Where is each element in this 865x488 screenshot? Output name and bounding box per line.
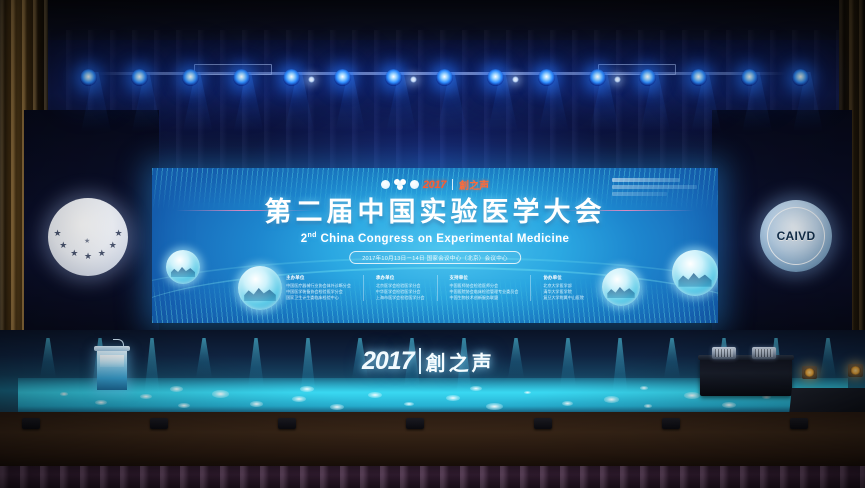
spotlight bbox=[436, 69, 453, 86]
accent-light bbox=[410, 76, 417, 83]
lighting-truss bbox=[0, 58, 865, 104]
star-icon: ★ bbox=[109, 241, 117, 250]
stage-edge-fixture bbox=[150, 418, 168, 429]
console-gear-1 bbox=[712, 347, 736, 359]
gobo-pattern bbox=[170, 386, 183, 392]
spotlight bbox=[589, 69, 606, 86]
spotlight bbox=[538, 69, 555, 86]
star-icon-center: ★ bbox=[84, 238, 90, 245]
accent-light bbox=[614, 76, 621, 83]
spotlight bbox=[131, 69, 148, 86]
gobo-pattern bbox=[640, 386, 648, 390]
spotlight bbox=[792, 69, 809, 86]
gobo-pattern bbox=[562, 401, 573, 406]
organizer-line: 上海市医学会检验医学分会 bbox=[376, 295, 425, 301]
organizer-line: 中国医疗器械行业协会体外诊断分会 bbox=[286, 283, 351, 289]
organizer-heading: 承办单位 bbox=[376, 275, 425, 281]
front-brand-divider bbox=[419, 348, 421, 374]
organizer-column: 承办单位北京医学会检验医学分会中华医学会检验医学分会上海市医学会检验医学分会 bbox=[366, 275, 435, 301]
star-icon: ★ bbox=[54, 229, 62, 238]
logo-flower-icon bbox=[394, 179, 406, 190]
title-en-rest: China Congress on Experimental Medicine bbox=[317, 233, 569, 245]
logo-dot-left-icon bbox=[381, 180, 390, 189]
sponsor-line-2 bbox=[612, 185, 697, 189]
gobo-pattern bbox=[250, 401, 263, 407]
gobo-pattern bbox=[644, 404, 652, 408]
screen-badge-3 bbox=[602, 268, 640, 306]
stage-edge-fixture bbox=[790, 418, 808, 429]
title-en-ordinal: nd bbox=[307, 232, 316, 239]
caivd-logo: CAIVD bbox=[760, 200, 832, 272]
caivd-label: CAIVD bbox=[777, 229, 816, 243]
spotlight bbox=[182, 69, 199, 86]
gobo-pattern bbox=[722, 402, 736, 408]
screen-badge-4 bbox=[672, 250, 718, 296]
organizer-line: 国家卫生计生委临床检验中心 bbox=[286, 295, 351, 301]
stage-edge-fixture bbox=[662, 418, 680, 429]
stage-edge-fixture bbox=[278, 418, 296, 429]
star-disc-emblem: ★★★★★★★★ bbox=[48, 198, 128, 276]
accent-light bbox=[512, 76, 519, 83]
star-icon: ★ bbox=[70, 249, 78, 258]
star-icon: ★ bbox=[59, 241, 67, 250]
microphone-icon bbox=[113, 339, 124, 346]
column-divider bbox=[530, 275, 531, 301]
organizer-heading: 支持单位 bbox=[450, 275, 519, 281]
spotlight bbox=[385, 69, 402, 86]
organizer-heading: 协办单位 bbox=[543, 275, 584, 281]
stage-edge-fixture bbox=[406, 418, 424, 429]
organizer-line: 北京医学会检验医学分会 bbox=[376, 283, 425, 289]
front-brand-year: 2017 bbox=[362, 347, 414, 376]
front-brand-chinese: 創之声 bbox=[426, 347, 495, 376]
accent-light bbox=[308, 76, 315, 83]
star-icon: ★ bbox=[114, 229, 122, 238]
caivd-inner-ring: CAIVD bbox=[767, 207, 825, 265]
house-floor bbox=[0, 466, 865, 488]
spotlight bbox=[741, 69, 758, 86]
speaker-podium bbox=[97, 346, 127, 390]
organizer-line: 中国医院协会临床检验管理专业委员会 bbox=[450, 289, 519, 295]
column-divider bbox=[363, 275, 364, 301]
spotlight bbox=[487, 69, 504, 86]
spotlight bbox=[233, 69, 250, 86]
screen-sponsor-logos bbox=[612, 178, 704, 214]
moving-light-2 bbox=[848, 364, 863, 377]
screen-date-venue: 2017年10月13日－14日 国家会议中心（北京）会议中心 bbox=[349, 251, 521, 264]
star-icon: ★ bbox=[84, 252, 92, 261]
screen-logo-year: 2017 bbox=[423, 179, 446, 191]
organizer-line: 中国医学装备协会检验医学分会 bbox=[286, 289, 351, 295]
logo-divider bbox=[452, 179, 453, 190]
sponsor-line-1 bbox=[612, 178, 680, 182]
truss-frame-right bbox=[598, 64, 676, 75]
organizer-column: 主办单位中国医疗器械行业协会体外诊断分会中国医学装备协会检验医学分会国家卫生计生… bbox=[276, 275, 361, 301]
logo-dot-right-icon bbox=[410, 180, 419, 189]
organizer-column: 支持单位中国医师协会检验医师分会中国医院协会临床检验管理专业委员会中国生物技术创… bbox=[440, 275, 529, 301]
av-control-console bbox=[700, 358, 792, 396]
screen-badge-1 bbox=[166, 250, 200, 284]
gobo-pattern bbox=[60, 392, 68, 396]
organizer-heading: 主办单位 bbox=[286, 275, 351, 281]
gobo-pattern bbox=[95, 400, 107, 405]
organizer-column: 协办单位北京大学医学部清华大学医学院复旦大学附属中山医院 bbox=[533, 275, 594, 301]
star-icon: ★ bbox=[98, 249, 106, 258]
screen-badge-2 bbox=[238, 266, 282, 310]
organizer-line: 中国生物技术创新服务联盟 bbox=[450, 295, 519, 301]
console-gear-2 bbox=[752, 347, 776, 359]
conference-stage-photo: 2017 創之声 第二届中国实验医学大会 2nd China Congress … bbox=[0, 0, 865, 488]
podium-graphic bbox=[100, 355, 124, 367]
gobo-pattern bbox=[470, 386, 482, 391]
organizer-line: 中华医学会检验医学分会 bbox=[376, 289, 425, 295]
screen-title-english: 2nd China Congress on Experimental Medic… bbox=[152, 232, 718, 245]
moving-light-1 bbox=[802, 366, 817, 379]
column-divider bbox=[437, 275, 438, 301]
stage-edge-fixture bbox=[22, 418, 40, 429]
gobo-pattern bbox=[604, 396, 619, 403]
gobo-pattern bbox=[446, 395, 460, 401]
organizer-line: 复旦大学附属中山医院 bbox=[543, 295, 584, 301]
podium-body bbox=[97, 351, 127, 390]
stage-front-brand: 2017 創之声 bbox=[362, 344, 534, 378]
sponsor-line-3 bbox=[612, 192, 667, 196]
led-screen: 2017 創之声 第二届中国实验医学大会 2nd China Congress … bbox=[152, 168, 718, 323]
stage-edge-fixture bbox=[534, 418, 552, 429]
stage-front-wall bbox=[0, 412, 865, 470]
gobo-pattern bbox=[212, 390, 229, 398]
spotlight bbox=[80, 69, 97, 86]
